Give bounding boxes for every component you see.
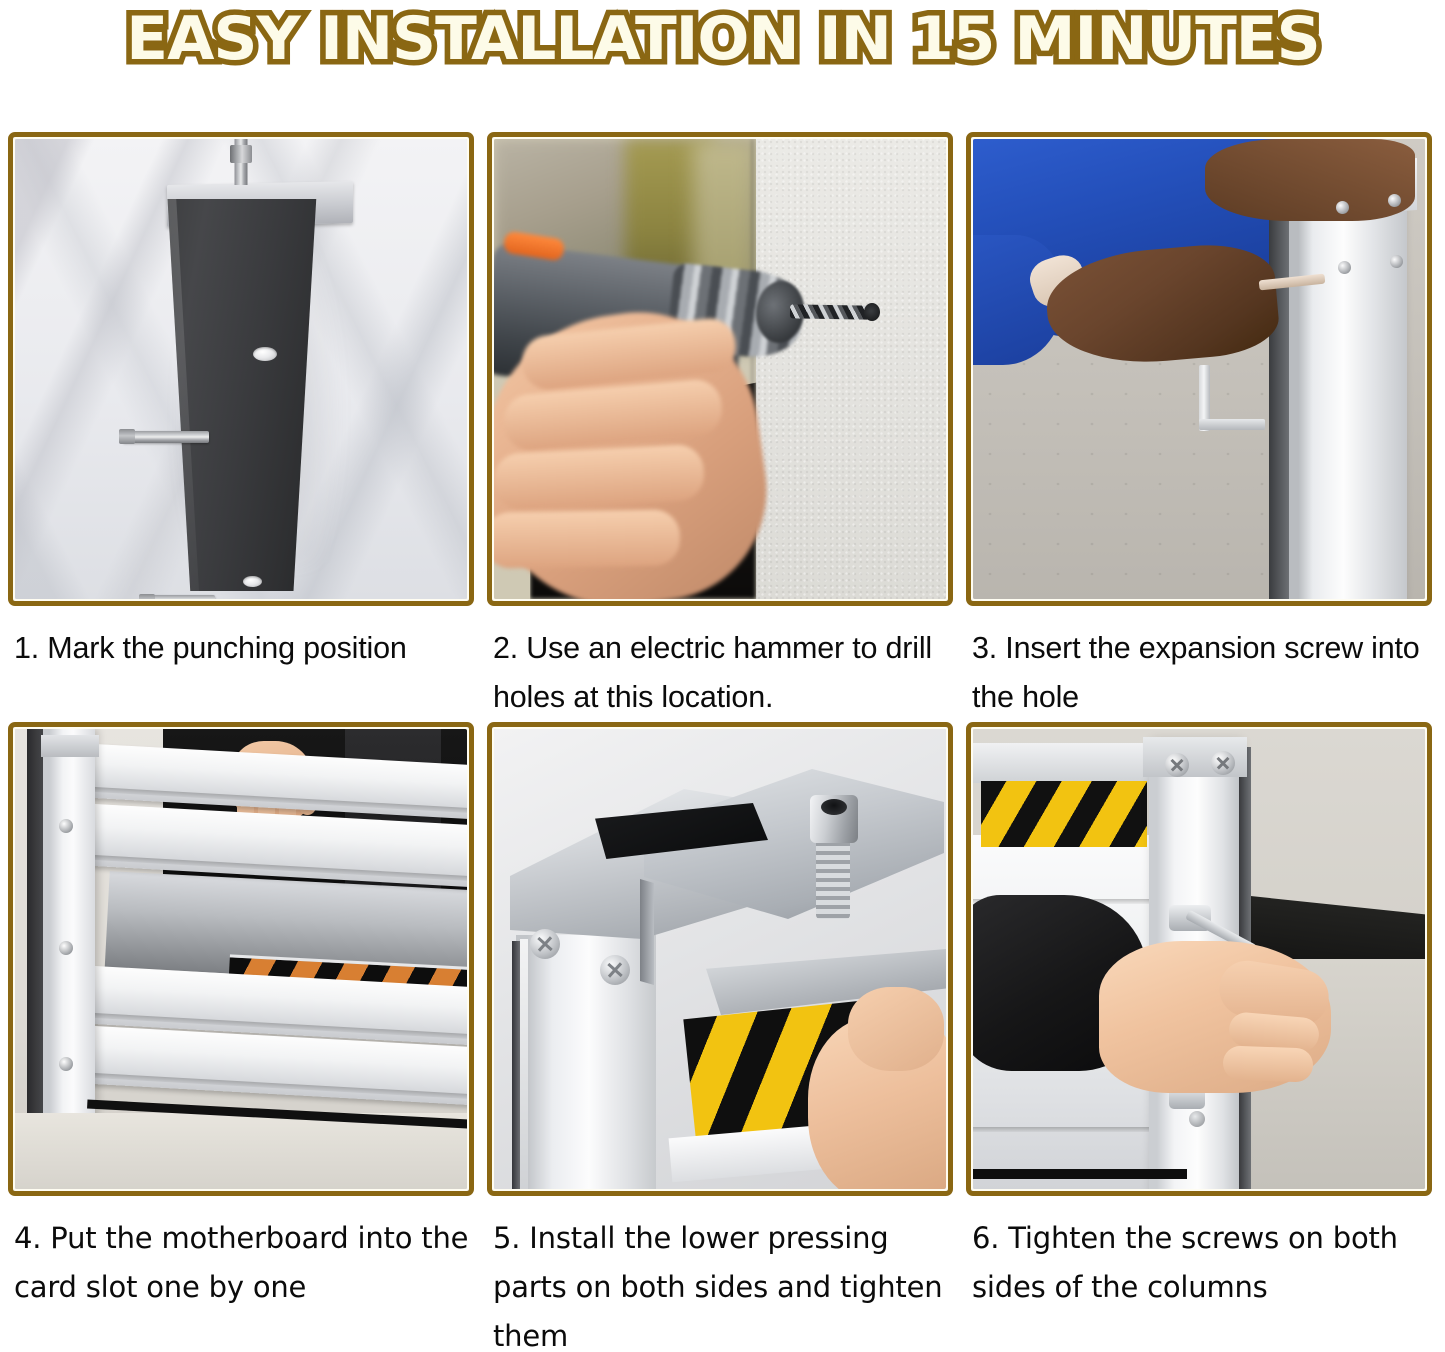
page-title-bar: EASY INSTALLATION IN 15 MINUTES [0, 0, 1445, 78]
scene-pressing-clamp [494, 729, 946, 1189]
scene-drilling-wall [494, 139, 946, 599]
step-caption-1: 1. Mark the punching position [8, 624, 470, 673]
phillips-screw-icon [600, 955, 630, 985]
step-card-6: 6. Tighten the screws on both sides of t… [966, 722, 1436, 1352]
step-card-3: 3. Insert the expansion screw into the h… [966, 132, 1436, 722]
bracket-hole-upper [253, 347, 277, 361]
phillips-screw-icon [1165, 753, 1189, 777]
arm-upper [1205, 139, 1415, 221]
scene-expansion-screw [973, 139, 1425, 599]
drill-bit-icon [790, 304, 870, 319]
side-bolt-upper [123, 431, 209, 443]
step-card-2: 2. Use an electric hammer to drill holes… [487, 132, 957, 722]
step-caption-2: 2. Use an electric hammer to drill holes… [487, 624, 949, 722]
step-photo-4 [8, 722, 474, 1196]
phillips-screw-icon [1211, 751, 1235, 775]
page-title: EASY INSTALLATION IN 15 MINUTES [126, 4, 1319, 74]
scene-tighten-screws [973, 729, 1425, 1189]
step-card-4: 4. Put the motherboard into the card slo… [8, 722, 478, 1352]
step-photo-6 [966, 722, 1432, 1196]
step-caption-3: 3. Insert the expansion screw into the h… [966, 624, 1428, 722]
steps-grid: 1. Mark the punching position [8, 132, 1437, 1352]
step-card-1: 1. Mark the punching position [8, 132, 478, 722]
step-photo-5 [487, 722, 953, 1196]
wall-surface [756, 139, 946, 599]
step-photo-3 [966, 132, 1432, 606]
hazard-stripe-yellow [981, 781, 1147, 847]
step-photo-1 [8, 132, 474, 606]
scene-bracket-on-cloth [15, 139, 467, 599]
white-column [516, 935, 656, 1189]
step-caption-4: 4. Put the motherboard into the card slo… [8, 1214, 470, 1312]
phillips-screw-icon [530, 929, 560, 959]
step-caption-5: 5. Install the lower pressing parts on b… [487, 1214, 949, 1352]
bracket-hole-lower [243, 576, 262, 587]
step-card-5: 5. Install the lower pressing parts on b… [487, 722, 957, 1352]
scene-boards-into-slot [15, 729, 467, 1189]
step-caption-6: 6. Tighten the screws on both sides of t… [966, 1214, 1428, 1312]
hex-bolt-shaft [816, 837, 850, 919]
step-photo-2 [487, 132, 953, 606]
installation-guide-page: EASY INSTALLATION IN 15 MINUTES [0, 0, 1445, 1352]
aluminium-column [1289, 185, 1407, 599]
